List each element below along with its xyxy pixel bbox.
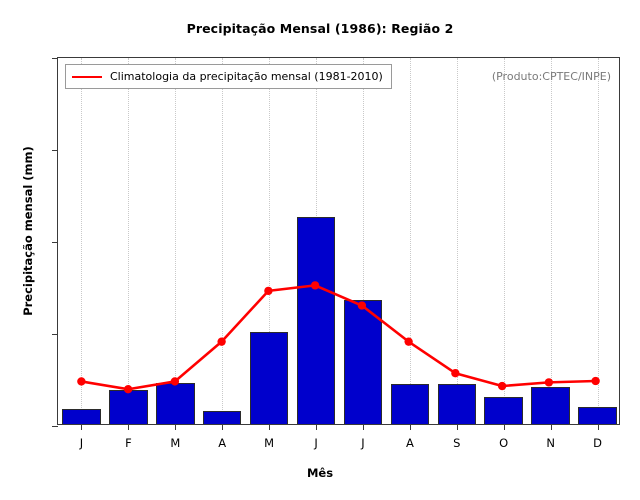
x-axis-tick <box>457 424 458 430</box>
plot-area: Climatologia da precipitação mensal (198… <box>57 57 620 425</box>
x-axis-tick-label: J <box>61 436 101 450</box>
y-axis-tick <box>52 242 58 243</box>
x-axis-tick-label: J <box>296 436 336 450</box>
x-axis-tick <box>598 424 599 430</box>
climatology-marker-j-0 <box>77 377 85 385</box>
x-axis-tick <box>269 424 270 430</box>
climatology-marker-f-1 <box>124 385 132 393</box>
x-axis-tick <box>504 424 505 430</box>
x-axis-tick-label: F <box>108 436 148 450</box>
climatology-marker-j-5 <box>311 281 319 289</box>
x-axis-label: Mês <box>0 466 640 480</box>
x-axis-tick-label: S <box>437 436 477 450</box>
climatology-marker-j-6 <box>358 301 366 309</box>
climatology-marker-n-10 <box>545 378 553 386</box>
x-axis-tick-label: D <box>578 436 618 450</box>
page-title: Precipitação Mensal (1986): Região 2 <box>0 21 640 36</box>
climatology-line <box>81 285 595 389</box>
y-axis-tick <box>52 58 58 59</box>
climatology-marker-m-2 <box>171 377 179 385</box>
legend: Climatologia da precipitação mensal (198… <box>65 64 392 89</box>
producer-annotation: (Produto:CPTEC/INPE) <box>492 70 611 83</box>
x-axis-tick <box>410 424 411 430</box>
y-axis-tick <box>52 150 58 151</box>
x-axis-tick-label: O <box>484 436 524 450</box>
x-axis-tick-label: A <box>390 436 430 450</box>
climatology-marker-a-3 <box>217 337 225 345</box>
x-axis-tick <box>175 424 176 430</box>
legend-item-label: Climatologia da precipitação mensal (198… <box>110 70 383 83</box>
climatology-marker-m-4 <box>264 287 272 295</box>
x-axis-tick-label: A <box>202 436 242 450</box>
x-axis-tick <box>363 424 364 430</box>
x-axis-tick-label: M <box>155 436 195 450</box>
y-axis-label: Precipitação mensal (mm) <box>21 111 35 351</box>
x-axis-tick <box>81 424 82 430</box>
climatology-marker-o-9 <box>498 382 506 390</box>
y-axis-tick <box>52 426 58 427</box>
x-axis-tick <box>128 424 129 430</box>
legend-line-swatch-icon <box>72 76 102 78</box>
x-axis-tick <box>222 424 223 430</box>
x-axis-tick-label: M <box>249 436 289 450</box>
precipitation-chart-figure: Precipitação Mensal (1986): Região 2 Pre… <box>0 0 640 500</box>
x-axis-tick-label: J <box>343 436 383 450</box>
climatology-line-layer <box>58 58 619 424</box>
climatology-marker-a-7 <box>404 337 412 345</box>
x-axis-tick-label: N <box>531 436 571 450</box>
climatology-marker-d-11 <box>591 377 599 385</box>
y-axis-tick <box>52 334 58 335</box>
x-axis-tick <box>551 424 552 430</box>
climatology-marker-s-8 <box>451 369 459 377</box>
x-axis-tick <box>316 424 317 430</box>
